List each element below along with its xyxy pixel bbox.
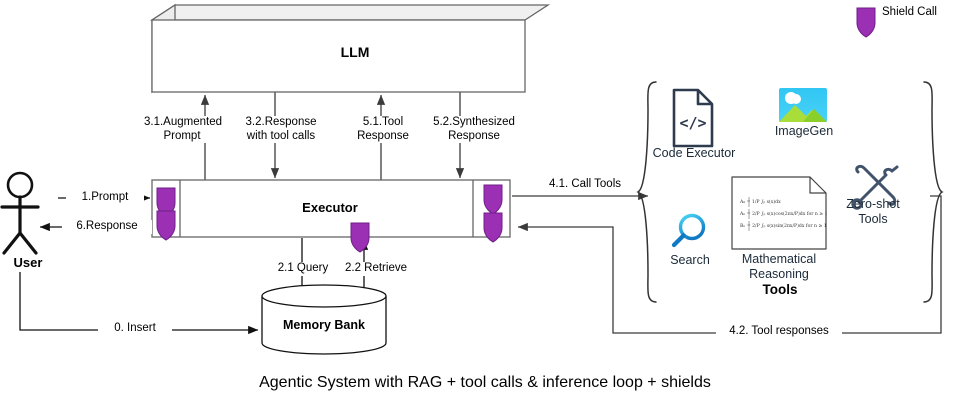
shield-icon-executor-out-top [484,185,502,214]
edge-label-tool-response: 5.1.Tool Response [348,116,418,143]
user-actor-shape [2,173,38,253]
llm-node-label: LLM [155,44,555,60]
diagram-canvas: </> A₀ = 1/P ∫ₚ s(x)dx [0,0,970,411]
code-document-icon: </> [674,90,712,146]
edge-label-tool-responses: 4.2. Tool responses [716,325,842,339]
tool-label-imagegen[interactable]: ImageGen [763,124,845,139]
edge-label-augmented-prompt: 3.1.Augmented Prompt [142,116,222,143]
edge-label-insert: 0. Insert [98,322,172,336]
shield-icon-executor-in-top [157,188,175,217]
executor-node-label: Executor [190,200,470,215]
svg-text:</>: </> [679,114,706,132]
shield-icon-executor-in-bottom [157,211,175,240]
svg-text:A₀ = 1/P ∫ₚ s(x)dx: A₀ = 1/P ∫ₚ s(x)dx [739,198,781,205]
image-icon [779,88,827,122]
tool-label-search[interactable]: Search [658,253,722,268]
connector-layer: </> A₀ = 1/P ∫ₚ s(x)dx [0,0,970,411]
edge-label-response-with-tool-calls: 3.2.Response with tool calls [237,116,325,143]
edge-label-query: 2.1 Query [268,262,338,276]
tools-group-label: Tools [700,282,860,297]
shield-icon-executor-out-bottom [484,213,502,242]
edge-label-retrieve: 2.2 Retrieve [334,262,418,276]
tool-label-code-executor[interactable]: Code Executor [648,146,740,161]
magnifier-icon [674,216,704,246]
edge-label-call-tools: 4.1. Call Tools [540,178,630,192]
edge-label-prompt: 1.Prompt [66,191,144,205]
legend-shield-label: Shield Call [882,6,937,18]
edge-label-synthesized-response: 5.2.Synthesized Response [428,116,520,143]
shield-icon-executor-memory [351,223,369,252]
memory-bank-node-label: Memory Bank [262,318,386,332]
tool-label-mathematical-reasoning[interactable]: Mathematical Reasoning [722,252,836,282]
formula-document-icon: A₀ = 1/P ∫ₚ s(x)dx Aₙ = 2/P ∫ₚ s(x)cos(2… [732,177,828,249]
user-node-label: User [0,255,56,270]
tool-label-zero-shot-tools[interactable]: Zero-shot Tools [838,197,908,227]
diagram-caption: Agentic System with RAG + tool calls & i… [0,374,970,392]
shield-icon-legend [857,8,875,37]
svg-text:Bₙ = 2/P ∫ₚ s(x)sin(2πx/P)dx: Bₙ = 2/P ∫ₚ s(x)sin(2πx/P)dx for n ≥ 1 [740,222,827,229]
edge-label-response: 6.Response [62,220,152,234]
svg-text:Aₙ = 2/P ∫ₚ s(x)cos(2πx/P)dx: Aₙ = 2/P ∫ₚ s(x)cos(2πx/P)dx for n ≥ 1 [739,210,828,217]
